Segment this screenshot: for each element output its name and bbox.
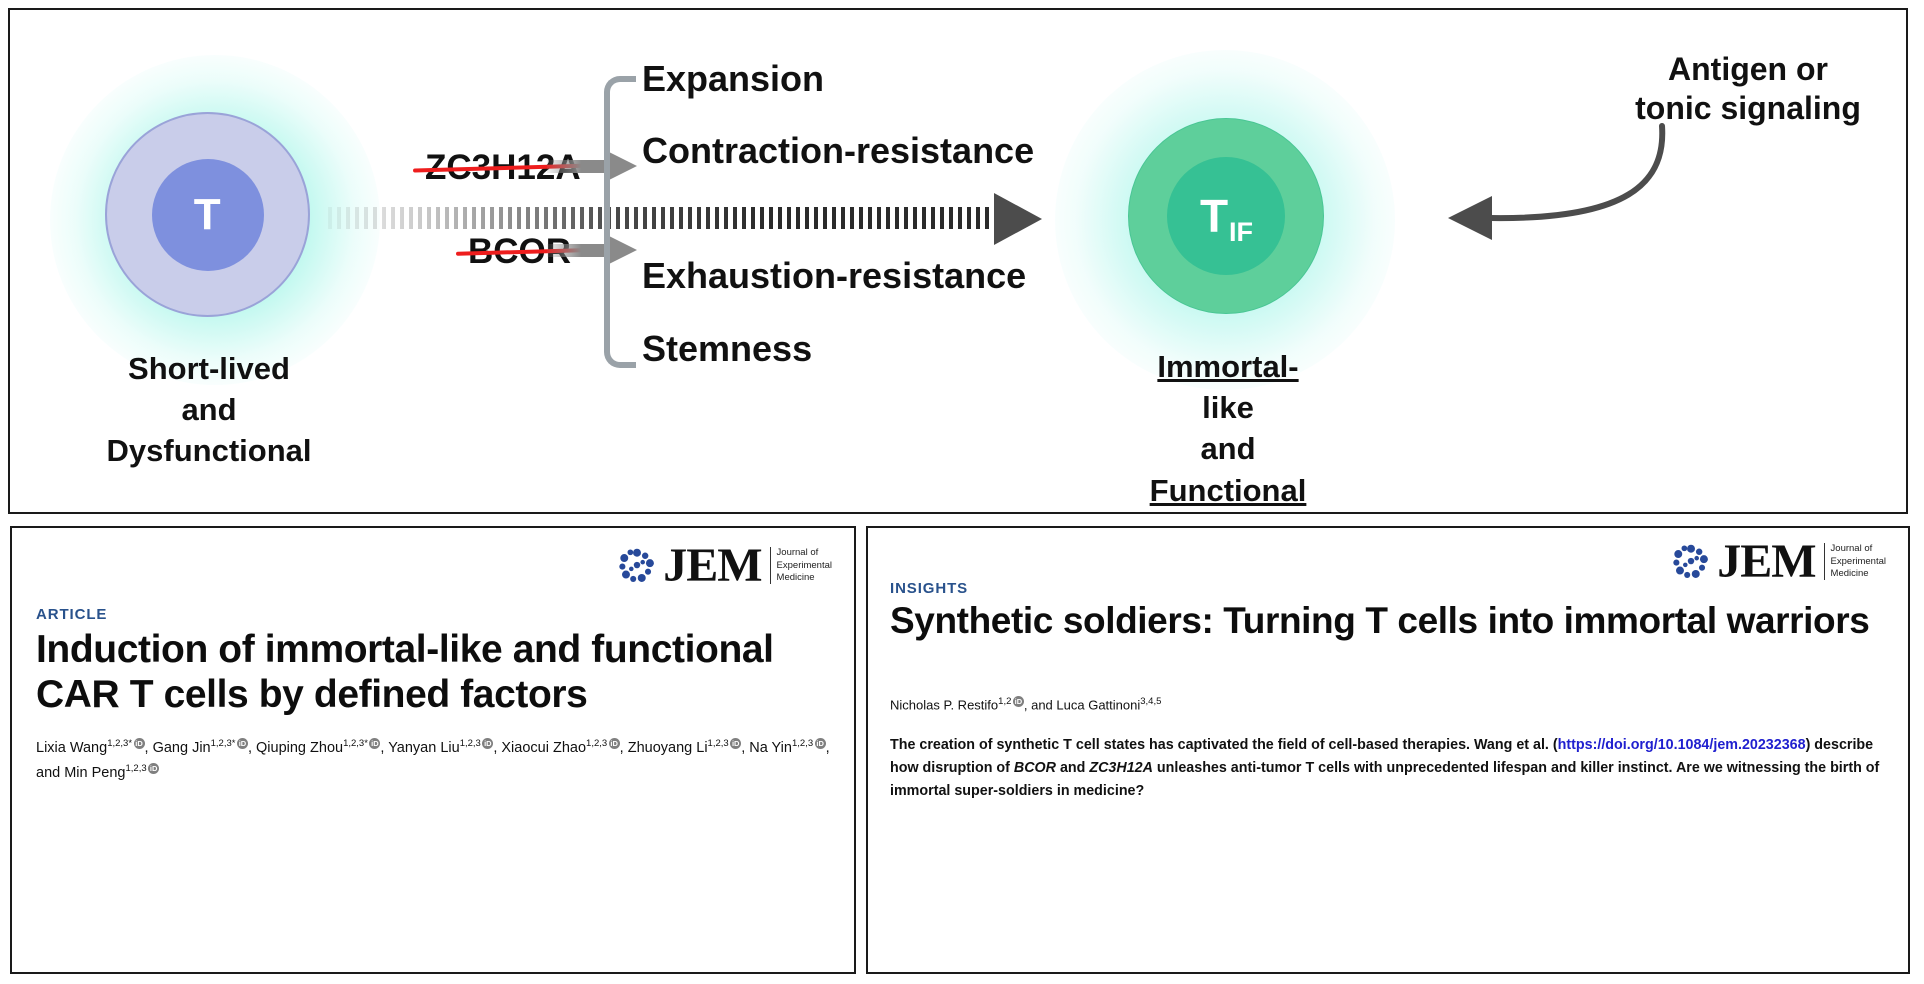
orcid-icon[interactable]: iD xyxy=(237,738,248,749)
stimulus-line: Antigen or xyxy=(1593,50,1903,89)
jem-wordmark: JEM xyxy=(663,546,761,585)
phenotype-exhaustion-resistance: Exhaustion-resistance xyxy=(642,255,1026,297)
jem-logo: JEM Journal of Experimental Medicine xyxy=(1672,542,1886,581)
right-cell-caption: Immortal- like and Functional xyxy=(1060,346,1396,511)
orcid-icon[interactable]: iD xyxy=(815,738,826,749)
doi-link[interactable]: https://doi.org/10.1084/jem.20232368 xyxy=(1558,737,1806,753)
orcid-icon[interactable]: iD xyxy=(148,763,159,774)
orcid-icon[interactable]: iD xyxy=(730,738,741,749)
orcid-icon[interactable]: iD xyxy=(482,738,493,749)
t-cell-nucleus: TIF xyxy=(1167,157,1285,275)
arrow-shaft xyxy=(328,207,1000,229)
caption-line: like xyxy=(1060,387,1396,428)
t-cell-label: T xyxy=(194,193,221,237)
t-cell-immortal-functional: TIF xyxy=(1128,118,1324,314)
article-card: JEM Journal of Experimental Medicine ART… xyxy=(10,526,856,974)
phenotype-stemness: Stemness xyxy=(642,328,812,370)
caption-line: and xyxy=(50,389,368,430)
jem-wordmark: JEM xyxy=(1717,542,1815,581)
jem-subtitle: Journal of Experimental Medicine xyxy=(770,547,832,584)
caption-line: Short-lived xyxy=(50,348,368,389)
curved-stimulus-arrow-icon xyxy=(1430,122,1690,252)
transition-arrow xyxy=(328,203,1040,233)
gene-name: BCOR xyxy=(1014,760,1056,776)
tif-cell-label: TIF xyxy=(1200,193,1252,239)
phenotype-contraction-resistance: Contraction-resistance xyxy=(642,130,1034,172)
jem-rosette-icon xyxy=(1672,543,1710,581)
phenotype-expansion: Expansion xyxy=(642,58,824,100)
jem-rosette-icon xyxy=(618,547,656,585)
article-author-list[interactable]: Lixia Wang1,2,3*iD, Gang Jin1,2,3*iD, Qi… xyxy=(36,736,836,786)
caption-line: Functional xyxy=(1060,470,1396,511)
caption-line: Immortal- xyxy=(1060,346,1396,387)
insight-kicker: INSIGHTS xyxy=(890,580,968,597)
arrow-head xyxy=(994,193,1042,245)
jem-logo: JEM Journal of Experimental Medicine xyxy=(618,546,832,585)
jem-subtitle: Journal of Experimental Medicine xyxy=(1824,543,1886,580)
gene-name: ZC3H12A xyxy=(1089,760,1153,776)
graphical-abstract-panel: T Short-lived and Dysfunctional ZC3H12A … xyxy=(8,8,1908,514)
orcid-icon[interactable]: iD xyxy=(609,738,620,749)
left-cell-caption: Short-lived and Dysfunctional xyxy=(50,348,368,472)
insight-author-list[interactable]: Nicholas P. Restifo1,2iD, and Luca Gatti… xyxy=(890,694,1870,716)
article-title: Induction of immortal-like and functiona… xyxy=(36,628,846,718)
t-cell-dysfunctional: T xyxy=(105,112,310,317)
stimulus-label: Antigen or tonic signaling xyxy=(1593,50,1903,128)
phenotype-bracket xyxy=(604,76,636,368)
t-cell-nucleus: T xyxy=(152,159,264,271)
orcid-icon[interactable]: iD xyxy=(369,738,380,749)
insight-title: Synthetic soldiers: Turning T cells into… xyxy=(890,600,1880,642)
orcid-icon[interactable]: iD xyxy=(134,738,145,749)
caption-line: Dysfunctional xyxy=(50,430,368,471)
article-kicker: ARTICLE xyxy=(36,606,107,623)
page-root: T Short-lived and Dysfunctional ZC3H12A … xyxy=(0,0,1924,984)
insight-card: JEM Journal of Experimental Medicine INS… xyxy=(866,526,1910,974)
insight-abstract: The creation of synthetic T cell states … xyxy=(890,734,1888,803)
caption-line: and xyxy=(1060,428,1396,469)
orcid-icon[interactable]: iD xyxy=(1013,696,1024,707)
